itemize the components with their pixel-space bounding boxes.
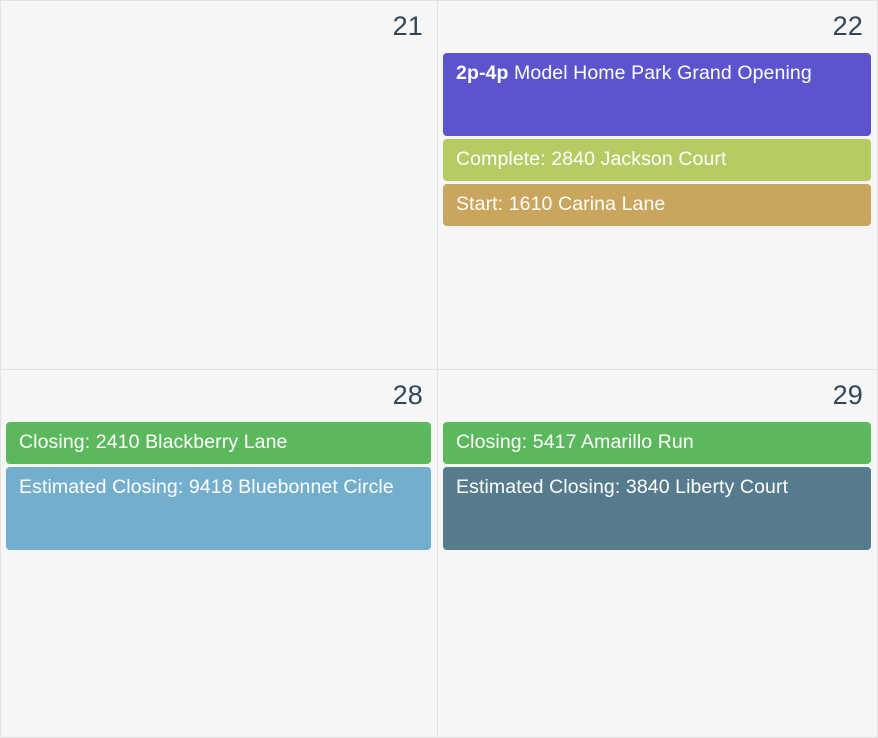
day-number[interactable]: 29 (438, 370, 877, 422)
calendar-month-grid: 21 22 2p-4p Model Home Park Grand Openin… (0, 0, 878, 738)
day-number[interactable]: 21 (1, 1, 437, 53)
day-cell-29[interactable]: 29 Closing: 5417 Amarillo Run Estimated … (438, 370, 878, 738)
event-title: Model Home Park Grand Opening (514, 62, 812, 84)
event-title: Estimated Closing: 9418 Bluebonnet Circl… (19, 476, 394, 498)
day-number[interactable]: 22 (438, 1, 877, 53)
event-title: Start: 1610 Carina Lane (456, 193, 665, 215)
event-list: Closing: 2410 Blackberry Lane Estimated … (1, 422, 437, 550)
day-cell-22[interactable]: 22 2p-4p Model Home Park Grand Opening C… (438, 0, 878, 370)
event-list: 2p-4p Model Home Park Grand Opening Comp… (438, 53, 877, 226)
event-chip[interactable]: Complete: 2840 Jackson Court (443, 139, 871, 181)
event-chip[interactable]: Start: 1610 Carina Lane (443, 184, 871, 226)
event-title: Estimated Closing: 3840 Liberty Court (456, 476, 788, 498)
event-list: Closing: 5417 Amarillo Run Estimated Clo… (438, 422, 877, 550)
event-chip[interactable]: Estimated Closing: 3840 Liberty Court (443, 467, 871, 550)
event-title: Closing: 2410 Blackberry Lane (19, 431, 287, 453)
event-title: Closing: 5417 Amarillo Run (456, 431, 694, 453)
event-chip[interactable]: Estimated Closing: 9418 Bluebonnet Circl… (6, 467, 431, 550)
event-chip[interactable]: 2p-4p Model Home Park Grand Opening (443, 53, 871, 136)
day-number[interactable]: 28 (1, 370, 437, 422)
event-chip[interactable]: Closing: 5417 Amarillo Run (443, 422, 871, 464)
event-chip[interactable]: Closing: 2410 Blackberry Lane (6, 422, 431, 464)
event-time: 2p-4p (456, 62, 509, 84)
day-cell-28[interactable]: 28 Closing: 2410 Blackberry Lane Estimat… (0, 370, 438, 738)
day-cell-21[interactable]: 21 (0, 0, 438, 370)
event-title: Complete: 2840 Jackson Court (456, 148, 727, 170)
